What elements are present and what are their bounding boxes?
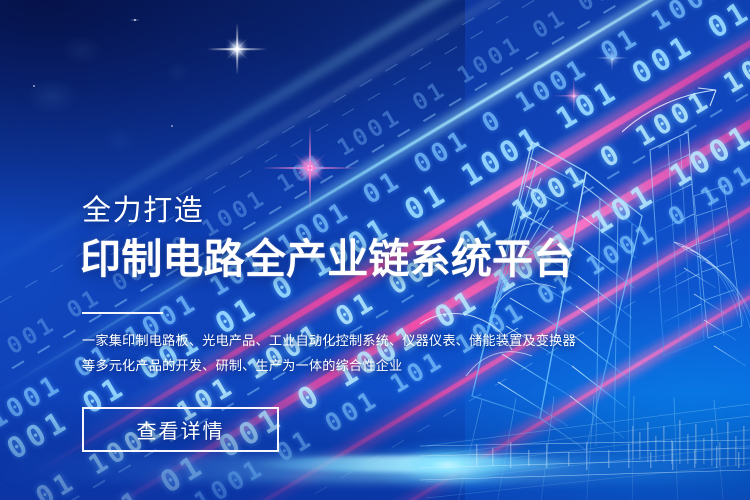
hero-description: 一家集印制电路板、光电产品、工业自动化控制系统、仪器仪表、储能装置及变换器 等多… — [82, 328, 568, 378]
hero-content: 全力打造 印制电路全产业链系统平台 一家集印制电路板、光电产品、工业自动化控制系… — [82, 0, 682, 500]
hero-divider — [82, 312, 163, 314]
hero-description-line-1: 一家集印制电路板、光电产品、工业自动化控制系统、仪器仪表、储能装置及变换器 — [82, 328, 568, 353]
hero-headline: 印制电路全产业链系统平台 — [80, 237, 574, 283]
hero-banner: 01 001 01 001 0 1001 101 1001 01 1001 01… — [0, 0, 750, 500]
view-details-button[interactable]: 查看详情 — [82, 407, 279, 452]
hero-description-line-2: 等多元化产品的开发、研制、生产为一体的综合性企业 — [82, 353, 568, 378]
hero-kicker: 全力打造 — [82, 196, 204, 227]
